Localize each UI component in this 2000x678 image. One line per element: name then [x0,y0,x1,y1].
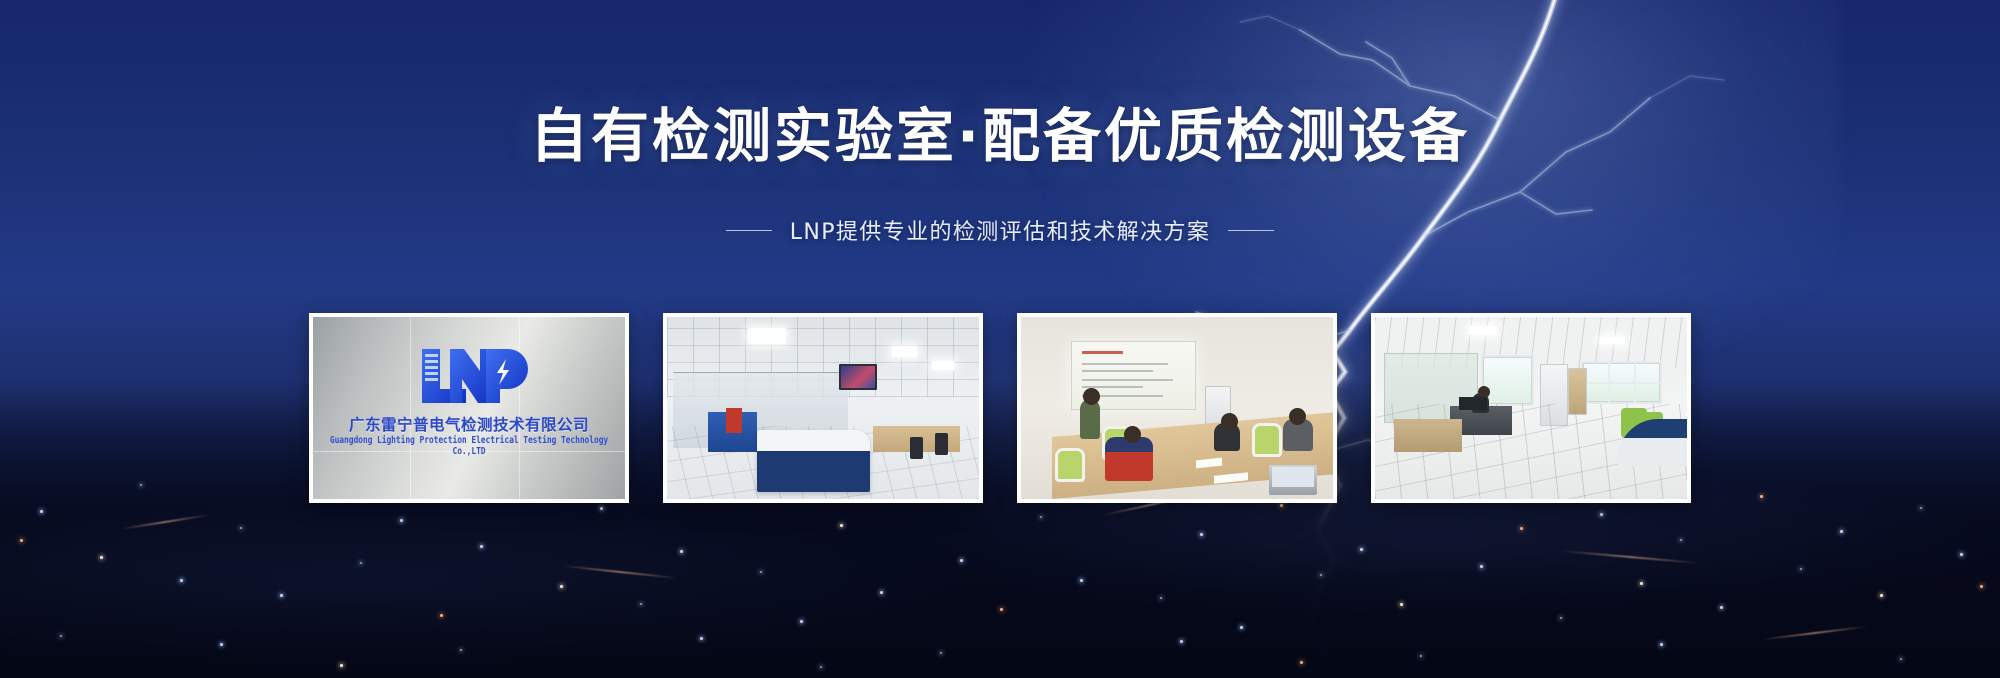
slide-line [1082,370,1153,372]
hero-banner: 自有检测实验室·配备优质检测设备 LNP提供专业的检测评估和技术解决方案 [0,0,2000,678]
chair [1252,423,1282,457]
page-title: 自有检测实验室·配备优质检测设备 [0,104,2000,169]
ceiling-light [932,361,954,370]
window [1581,361,1662,405]
chair [1055,448,1085,482]
meeting-room-photo [1021,317,1333,499]
ceiling-light [1469,326,1497,335]
photo-card-row: 广东雷宁普电气检测技术有限公司 Guangdong Lighting Prote… [0,313,2000,503]
photo-card-training-meeting-room[interactable] [1017,313,1337,503]
laptop-screen [1272,467,1314,487]
company-name-en: Guangdong Lighting Protection Electrical… [313,434,625,457]
page-subtitle: LNP提供专业的检测评估和技术解决方案 [790,214,1211,246]
rule-right [1228,230,1274,231]
wall-monitor [839,364,877,390]
slide-line [1082,363,1168,365]
slide-title-line [1082,351,1124,354]
photo-card-office-area[interactable] [1371,313,1691,503]
control-console [757,430,869,492]
ceiling-light [1600,337,1625,344]
slide-line [1082,379,1173,381]
test-equipment-red [726,408,742,433]
lnp-logo-icon [408,345,530,407]
window-mullion [1583,382,1660,384]
company-name-cn: 广东雷宁普电气检测技术有限公司 [313,413,625,435]
subtitle-row: LNP提供专业的检测评估和技术解决方案 [0,214,2000,246]
laboratory-photo [667,317,979,499]
desk [1394,419,1463,452]
office-photo [1375,317,1687,499]
photo-card-testing-laboratory[interactable] [663,313,983,503]
person-attendee [1105,437,1153,481]
window [1481,355,1534,406]
chair [910,437,923,459]
laptop [1269,465,1317,495]
logo-wall-photo: 广东雷宁普电气检测技术有限公司 Guangdong Lighting Prote… [313,317,625,499]
ceiling-light [748,328,785,344]
chair [935,433,948,455]
photo-card-company-logo-wall[interactable]: 广东雷宁普电气检测技术有限公司 Guangdong Lighting Prote… [309,313,629,503]
rule-left [726,230,772,231]
ceiling-light [892,346,917,357]
person-head [1124,426,1141,443]
computer-monitor [1459,397,1487,410]
